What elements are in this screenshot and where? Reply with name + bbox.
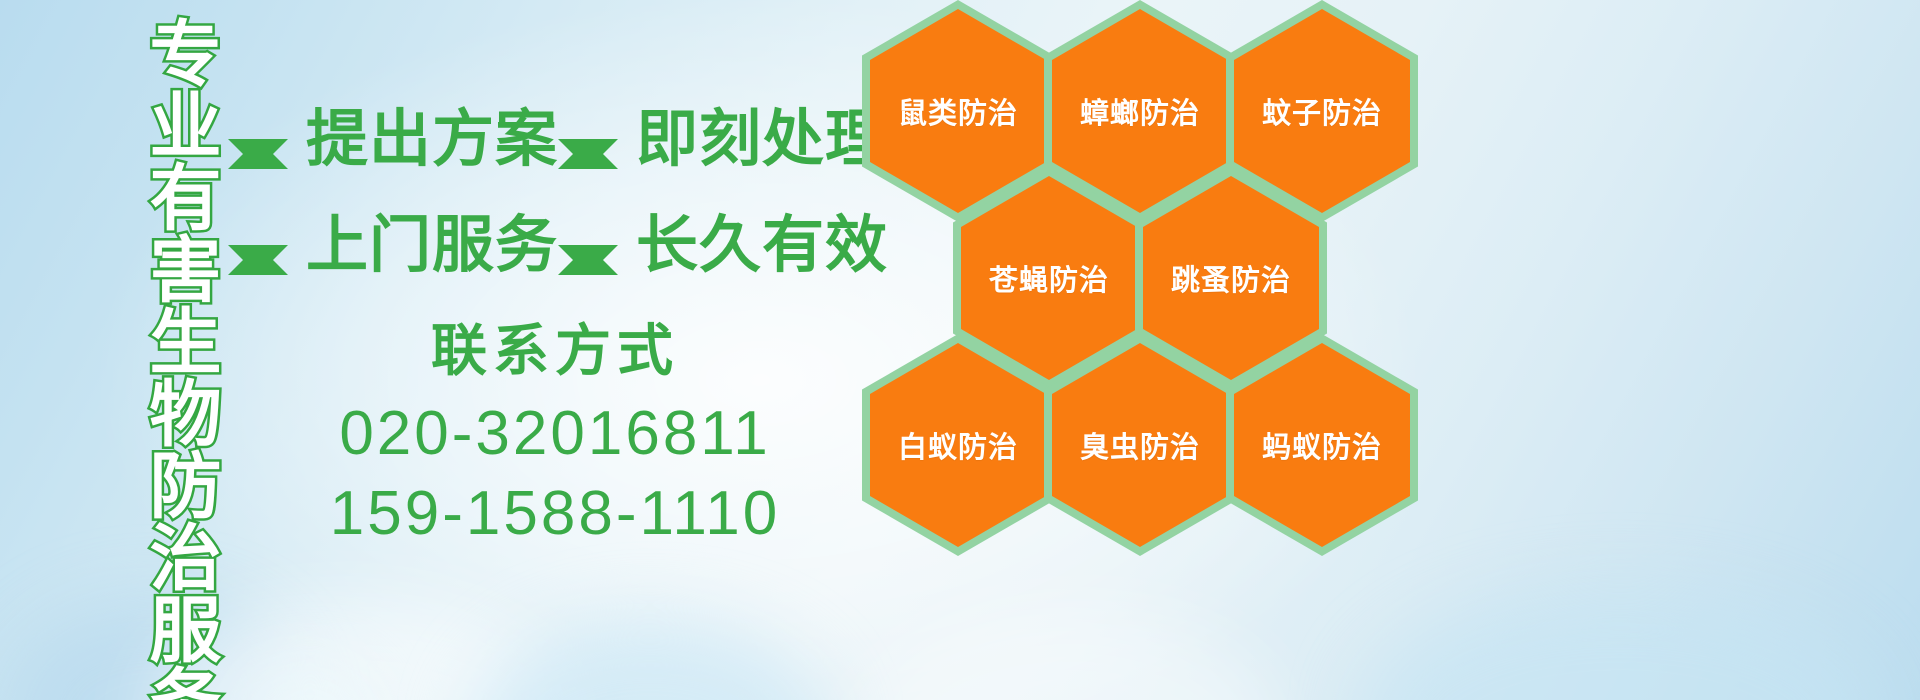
service-hex-inner: 鼠类防治 <box>870 9 1046 213</box>
feature-row: 提出方案 即刻处理 <box>228 86 868 192</box>
feature-item: 提出方案 <box>228 108 558 170</box>
contact-title: 联系方式 <box>230 320 880 384</box>
feature-label: 长久有效 <box>636 214 888 276</box>
service-hex-inner: 蚂蚁防治 <box>1234 343 1410 547</box>
feature-label: 提出方案 <box>306 108 558 170</box>
diamond-bullet-icon <box>228 139 288 199</box>
background-haze <box>860 610 1280 700</box>
contact-phone-mobile[interactable]: 159-1588-1110 <box>230 474 880 553</box>
service-hex-label: 臭虫防治 <box>1080 424 1200 466</box>
service-hex-inner: 蚊子防治 <box>1234 9 1410 213</box>
service-hex-label: 蚂蚁防治 <box>1262 424 1382 466</box>
feature-item: 长久有效 <box>558 214 888 276</box>
feature-label: 上门服务 <box>306 214 558 276</box>
feature-row: 上门服务 长久有效 <box>228 192 868 298</box>
service-hex-label: 白蚁防治 <box>898 424 1018 466</box>
service-hex-inner: 臭虫防治 <box>1052 343 1228 547</box>
service-hex-label: 跳蚤防治 <box>1171 257 1291 299</box>
feature-label: 即刻处理 <box>636 108 888 170</box>
pest-control-banner: 专业有害生物防治服务 提出方案 即刻处理 上门服务 长久有效 <box>0 0 1920 700</box>
service-honeycomb-grid: 鼠类防治 蟑螂防治 蚊子防治 苍蝇防治 跳蚤防治 白蚁防治 <box>862 0 1462 552</box>
service-hex-inner: 白蚁防治 <box>870 343 1046 547</box>
vertical-headline: 专业有害生物防治服务 <box>104 16 216 688</box>
diamond-bullet-icon <box>228 245 288 305</box>
diamond-bullet-icon <box>558 245 618 305</box>
service-hex-label: 蚊子防治 <box>1262 90 1382 132</box>
feature-list: 提出方案 即刻处理 上门服务 长久有效 <box>228 86 868 298</box>
service-hex-label: 鼠类防治 <box>898 90 1018 132</box>
service-hex-label: 蟑螂防治 <box>1080 90 1200 132</box>
service-hex-label: 苍蝇防治 <box>989 257 1109 299</box>
diamond-bullet-icon <box>558 139 618 199</box>
contact-block: 联系方式 020-32016811 159-1588-1110 <box>230 320 880 553</box>
background-haze <box>470 620 830 700</box>
contact-phone-landline[interactable]: 020-32016811 <box>230 394 880 473</box>
background-haze <box>250 670 370 700</box>
service-hex-inner: 跳蚤防治 <box>1143 176 1319 380</box>
background-haze <box>1360 590 1880 700</box>
feature-item: 上门服务 <box>228 214 558 276</box>
service-hex-inner: 苍蝇防治 <box>961 176 1137 380</box>
service-hex-inner: 蟑螂防治 <box>1052 9 1228 213</box>
feature-item: 即刻处理 <box>558 108 888 170</box>
